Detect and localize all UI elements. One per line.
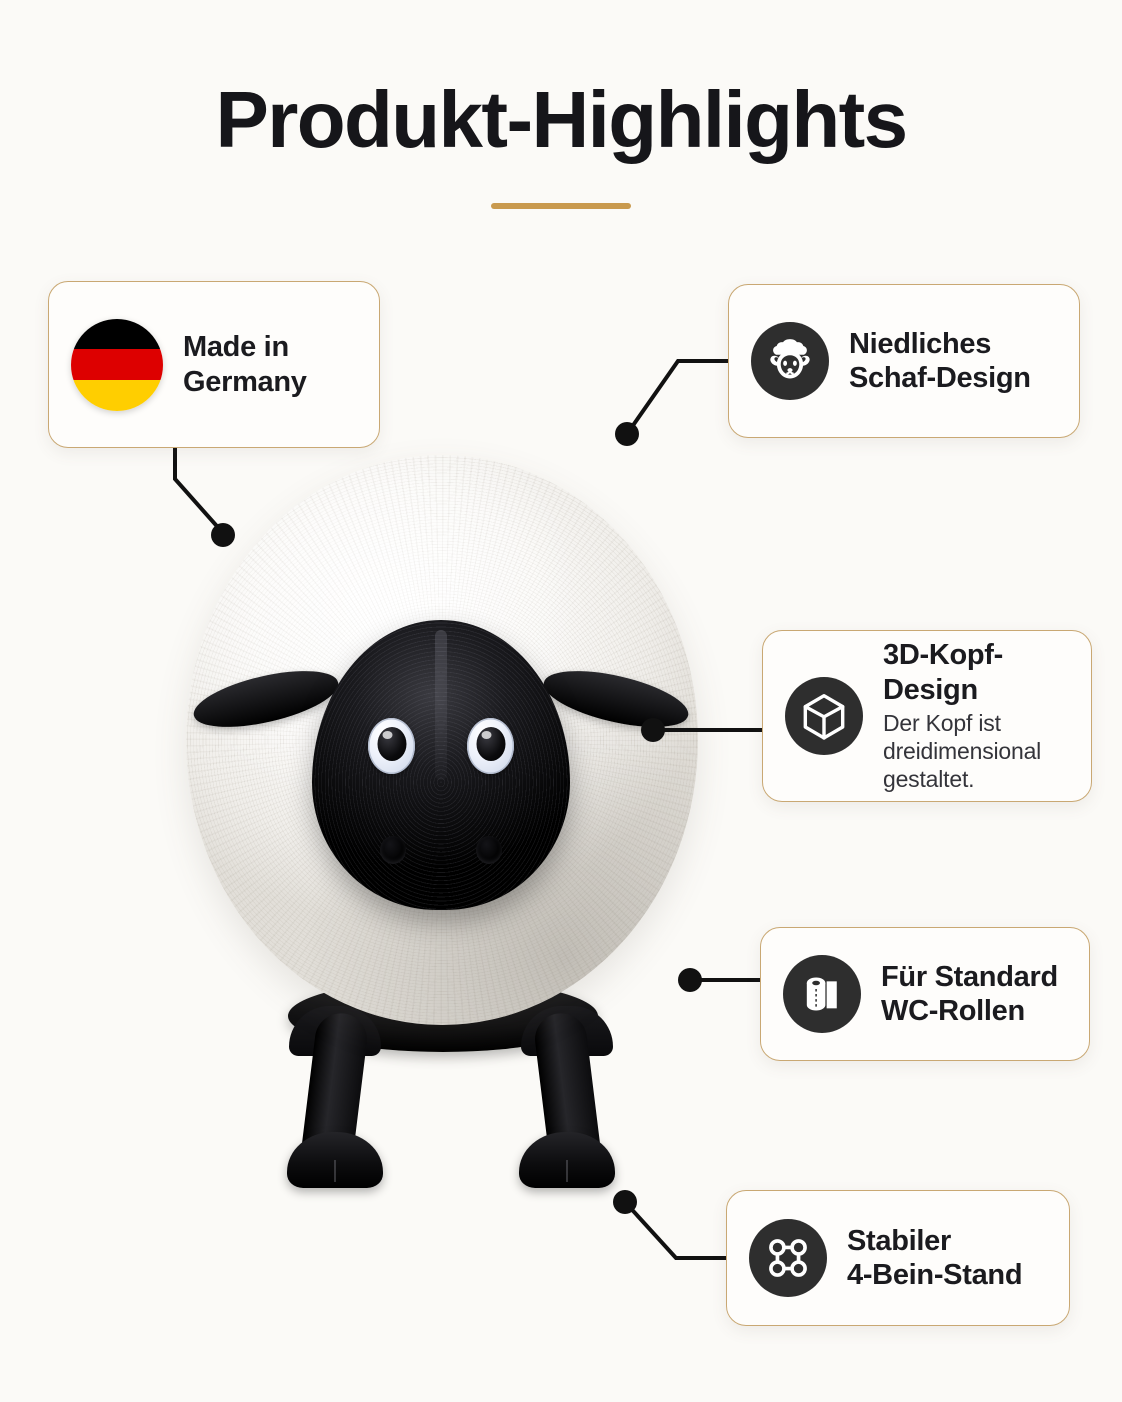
connector-legs [625, 1202, 726, 1258]
connector-sheep [627, 361, 728, 434]
card-title: Niedliches Schaf-Design [849, 327, 1031, 395]
card-subtitle: Der Kopf ist dreidimensional gestaltet. [883, 709, 1069, 794]
highlight-card-wc-rollen[interactable]: Für Standard WC-Rollen [760, 927, 1090, 1061]
card-title: 3D-Kopf-Design [883, 638, 1069, 706]
sheep-eye-right [467, 718, 514, 774]
card-title: Für Standard WC-Rollen [881, 960, 1058, 1028]
card-title: Stabiler 4-Bein-Stand [847, 1224, 1022, 1292]
sheep-nostril-right [476, 836, 502, 864]
card-text-wc-rollen: Für Standard WC-Rollen [881, 960, 1058, 1028]
card-text-made-in-germany: Made in Germany [183, 330, 307, 398]
card-text-schaf-design: Niedliches Schaf-Design [849, 327, 1031, 395]
infographic-canvas: Produkt-Highlights [0, 0, 1122, 1402]
sheep-head [312, 620, 570, 910]
highlight-card-made-in-germany[interactable]: Made in Germany [48, 281, 380, 448]
sheep-pupil-right [476, 727, 505, 761]
card-text-4-bein-stand: Stabiler 4-Bein-Stand [847, 1224, 1022, 1292]
highlight-card-schaf-design[interactable]: Niedliches Schaf-Design [728, 284, 1080, 438]
title-accent-rule [491, 203, 631, 209]
sheep-pupil-left [377, 727, 406, 761]
cube-icon [785, 677, 863, 755]
page-title: Produkt-Highlights [0, 78, 1122, 162]
highlight-card-3d-kopf-design[interactable]: 3D-Kopf-Design Der Kopf ist dreidimensio… [762, 630, 1092, 802]
sheep-hoof-front-right [519, 1132, 615, 1188]
highlight-card-4-bein-stand[interactable]: Stabiler 4-Bein-Stand [726, 1190, 1070, 1326]
sheep-head-shape [312, 620, 570, 910]
sheep-face-icon [751, 322, 829, 400]
head-center-ridge [435, 630, 447, 780]
card-title: Made in Germany [183, 330, 307, 398]
toilet-paper-roll-icon [783, 955, 861, 1033]
sheep-eye-left [368, 718, 415, 774]
four-node-stand-icon [749, 1219, 827, 1297]
sheep-nostril-left [380, 836, 406, 864]
card-text-3d-kopf-design: 3D-Kopf-Design Der Kopf ist dreidimensio… [883, 638, 1069, 793]
product-photo [176, 440, 716, 1200]
german-flag-icon [71, 319, 163, 411]
